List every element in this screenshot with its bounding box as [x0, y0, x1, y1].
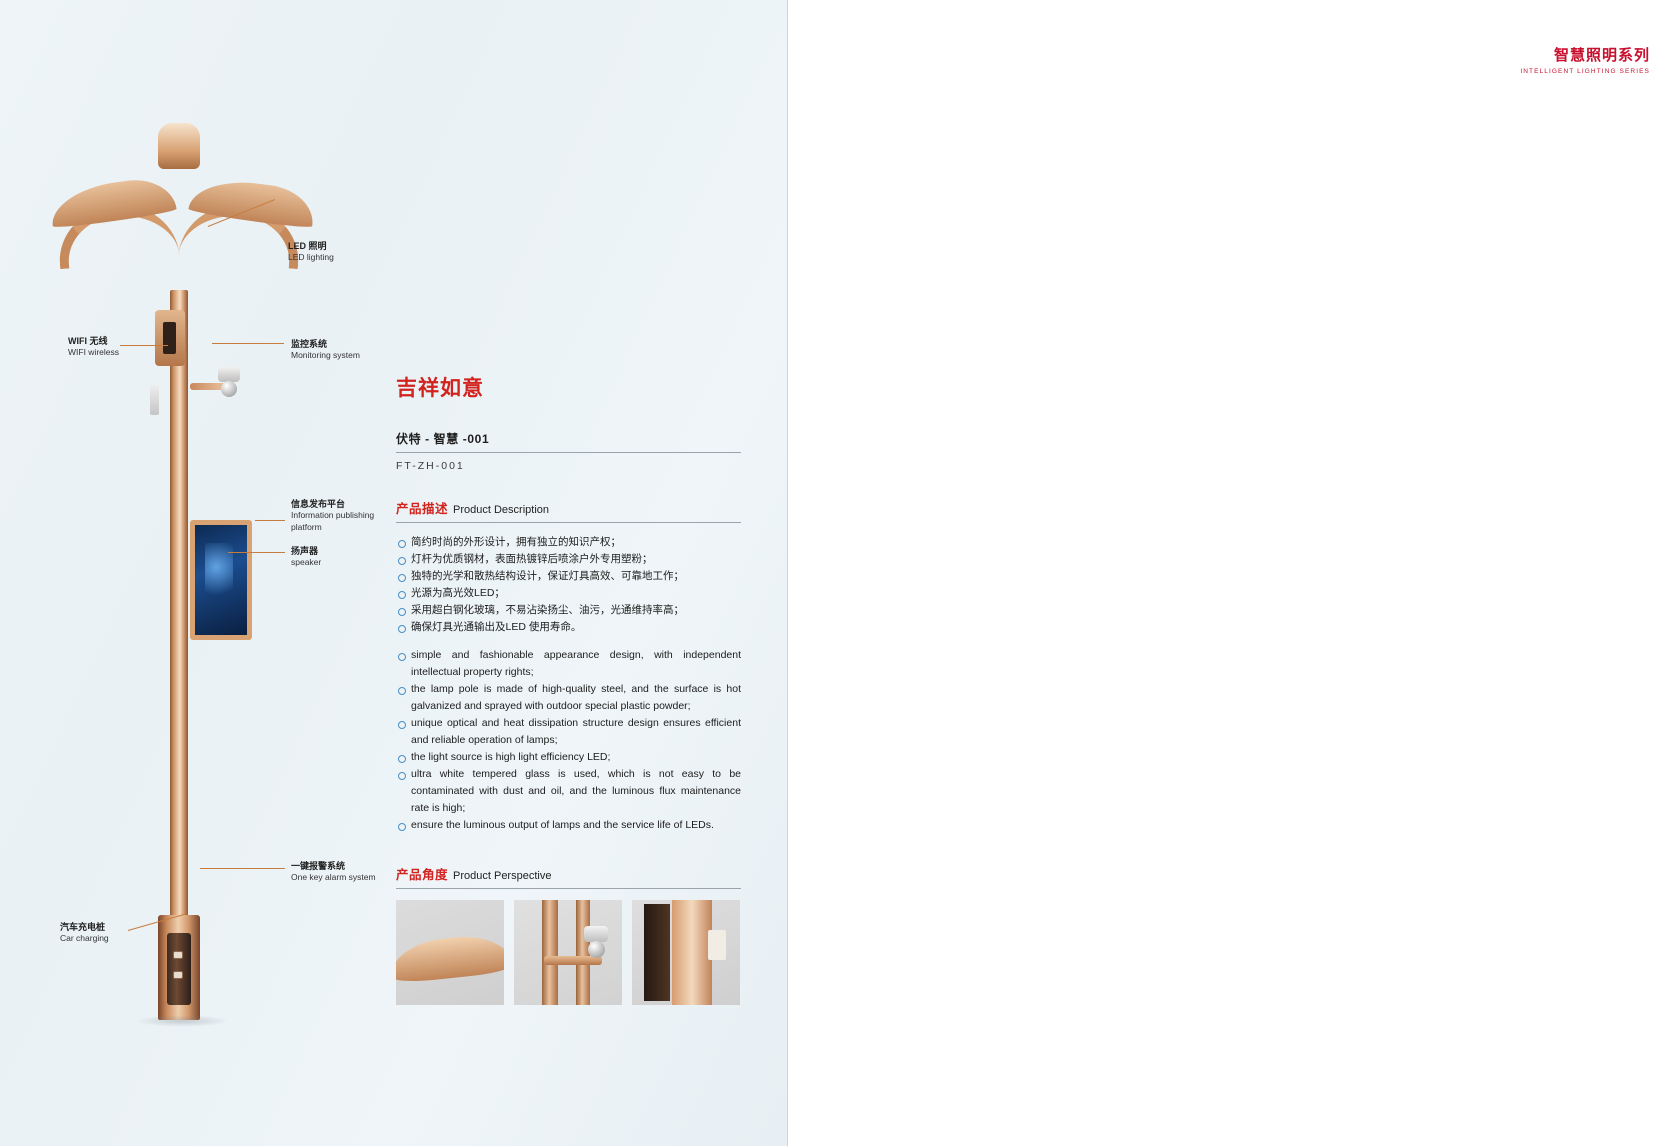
- pole-base-door: [167, 933, 191, 1005]
- perspective-heading: 产品角度Product Perspective: [396, 864, 741, 889]
- description-heading-cn: 产品描述: [396, 502, 448, 516]
- thumb-panel: [672, 900, 712, 1005]
- thumbnail-lamp-arm[interactable]: [396, 900, 504, 1005]
- description-bullets-cn: 简约时尚的外形设计，拥有独立的知识产权； 灯杆为优质钢材，表面热镀锌后喷涂户外专…: [396, 534, 741, 636]
- leader-line-monitor: [212, 343, 284, 344]
- list-item: unique optical and heat dissipation stru…: [396, 715, 741, 749]
- description-heading-en: Product Description: [453, 504, 549, 516]
- callout-en: One key alarm system: [291, 872, 376, 883]
- left-page: LED 照明 LED lighting WIFI 无线 WIFI wireles…: [0, 0, 787, 1146]
- callout-cn: 一键报警系统: [291, 860, 376, 872]
- product-info-block: 吉祥如意 伏特 - 智慧 -001 FT-ZH-001 产品描述Product …: [396, 372, 741, 1005]
- alarm-button: [173, 951, 183, 959]
- callout-led-lighting: LED 照明 LED lighting: [288, 240, 334, 264]
- camera-housing: [218, 367, 240, 382]
- callout-en: Car charging: [60, 933, 109, 944]
- callout-wifi-wireless: WIFI 无线 WIFI wireless: [68, 335, 119, 359]
- model-number-cn: 伏特 - 智慧 -001: [396, 430, 741, 453]
- pole-decor-inset: [163, 322, 176, 354]
- list-item: 光源为高光效LED；: [396, 585, 741, 602]
- right-page: 智慧照明系列 INTELLIGENT LIGHTING SERIES 结构参数S…: [787, 0, 1678, 1146]
- callout-cn: 监控系统: [291, 338, 360, 350]
- page-title: 吉祥如意: [396, 372, 741, 402]
- lamp-head: [158, 123, 200, 169]
- description-heading: 产品描述Product Description: [396, 498, 741, 523]
- thumbnail-pole-door[interactable]: [632, 900, 740, 1005]
- thumb-camera-housing: [584, 926, 608, 942]
- callout-information-platform: 信息发布平台 Information publishing platform: [291, 498, 383, 533]
- thumb-door: [644, 904, 670, 1001]
- list-item: simple and fashionable appearance design…: [396, 647, 741, 681]
- ground-shadow: [135, 1015, 230, 1027]
- thumb-control-badge: [708, 930, 726, 960]
- list-item: 灯杆为优质钢材，表面热镀锌后喷涂户外专用塑粉；: [396, 551, 741, 568]
- description-bullets-en: simple and fashionable appearance design…: [396, 647, 741, 834]
- callout-speaker: 扬声器 speaker: [291, 545, 321, 569]
- list-item: 采用超白钢化玻璃，不易沾染扬尘、油污，光通维持率高；: [396, 602, 741, 619]
- list-item: the light source is high light efficienc…: [396, 749, 741, 766]
- brand-header: 智慧照明系列 INTELLIGENT LIGHTING SERIES: [1520, 44, 1650, 75]
- leader-line-wifi: [120, 345, 168, 346]
- wifi-antenna: [150, 385, 159, 415]
- model-number-en: FT-ZH-001: [396, 460, 741, 472]
- list-item: 简约时尚的外形设计，拥有独立的知识产权；: [396, 534, 741, 551]
- list-item: ultra white tempered glass is used, whic…: [396, 766, 741, 817]
- callout-en: Monitoring system: [291, 350, 360, 361]
- leader-line-alarm: [200, 868, 285, 869]
- list-item: ensure the luminous output of lamps and …: [396, 817, 741, 834]
- thumb-camera-dome: [588, 941, 605, 958]
- perspective-heading-cn: 产品角度: [396, 868, 448, 882]
- perspective-thumbnails: [396, 900, 741, 1005]
- brand-title-en: INTELLIGENT LIGHTING SERIES: [1520, 68, 1650, 75]
- callout-cn: 汽车充电桩: [60, 921, 109, 933]
- leader-line-info: [255, 520, 285, 521]
- callout-cn: 扬声器: [291, 545, 321, 557]
- pole-shaft: [170, 290, 188, 985]
- information-display-screen: [190, 520, 252, 640]
- leader-line-speaker: [228, 552, 285, 553]
- list-item: 独特的光学和散热结构设计，保证灯具高效、可靠地工作；: [396, 568, 741, 585]
- catalog-spread: LED 照明 LED lighting WIFI 无线 WIFI wireles…: [0, 0, 1678, 1146]
- list-item: 确保灯具光通输出及LED 使用寿命。: [396, 619, 741, 636]
- thumb-pole: [542, 900, 558, 1005]
- callout-en: LED lighting: [288, 252, 334, 263]
- camera-dome: [221, 381, 237, 397]
- callout-cn: LED 照明: [288, 240, 334, 252]
- brand-title-cn: 智慧照明系列: [1520, 44, 1650, 65]
- thumbnail-camera-bracket[interactable]: [514, 900, 622, 1005]
- callout-en: Information publishing platform: [291, 510, 383, 533]
- callout-monitoring-system: 监控系统 Monitoring system: [291, 338, 360, 362]
- callout-car-charging: 汽车充电桩 Car charging: [60, 921, 109, 945]
- charging-socket: [173, 971, 183, 979]
- callout-en: WIFI wireless: [68, 347, 119, 358]
- callout-alarm-system: 一键报警系统 One key alarm system: [291, 860, 376, 884]
- thumb-arm-shape: [396, 932, 504, 985]
- callout-en: speaker: [291, 557, 321, 568]
- callout-cn: WIFI 无线: [68, 335, 119, 347]
- list-item: the lamp pole is made of high-quality st…: [396, 681, 741, 715]
- pole-decor-box: [155, 310, 185, 366]
- callout-cn: 信息发布平台: [291, 498, 383, 510]
- product-illustration: [40, 95, 370, 975]
- perspective-heading-en: Product Perspective: [453, 870, 551, 882]
